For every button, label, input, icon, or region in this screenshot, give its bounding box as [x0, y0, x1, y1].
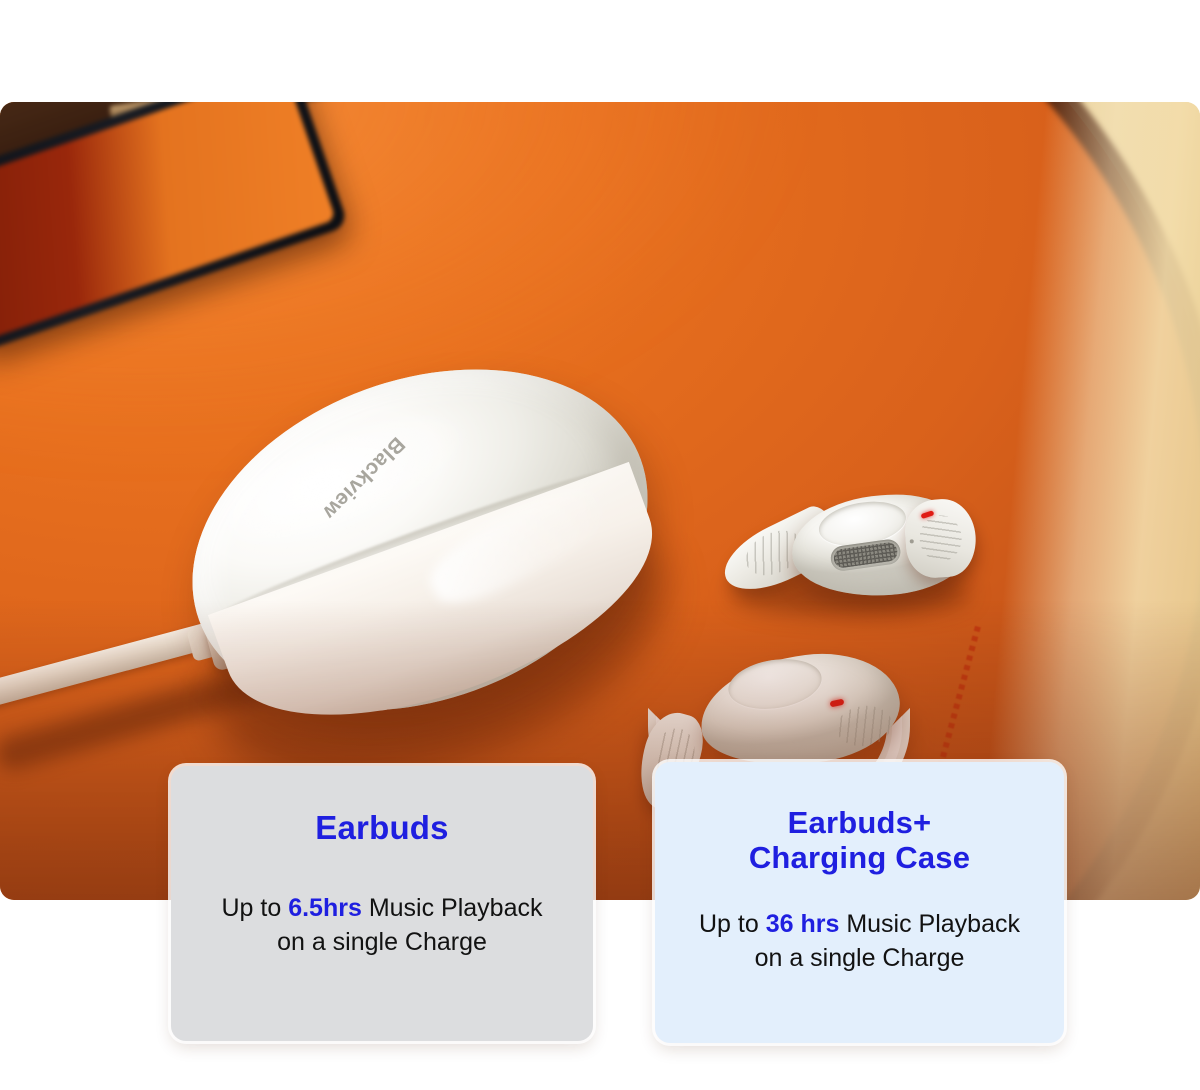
desc-highlight-battery-life: 36 hrs	[766, 910, 840, 938]
card-title-line2: Charging Case	[749, 840, 970, 875]
desc-highlight-battery-life: 6.5hrs	[288, 894, 362, 922]
phone-screen	[0, 102, 336, 340]
feature-card-earbuds-charging-case: Earbuds+Charging Case Up to 36 hrs Music…	[655, 762, 1064, 1043]
card-description-earbuds: Up to 6.5hrs Music Playback on a single …	[217, 891, 547, 959]
feature-card-earbuds: Earbuds Up to 6.5hrs Music Playback on a…	[171, 766, 593, 1041]
earbud-right	[716, 473, 974, 620]
card-title-earbuds: Earbuds	[315, 810, 448, 847]
card-title-line1: Earbuds+	[788, 805, 932, 840]
phone	[0, 102, 349, 353]
card-title-earbuds-charging-case: Earbuds+Charging Case	[749, 806, 970, 875]
desc-prefix: Up to	[222, 894, 289, 922]
card-description-earbuds-charging-case: Up to 36 hrs Music Playback on a single …	[695, 907, 1025, 975]
desc-prefix: Up to	[699, 910, 766, 938]
